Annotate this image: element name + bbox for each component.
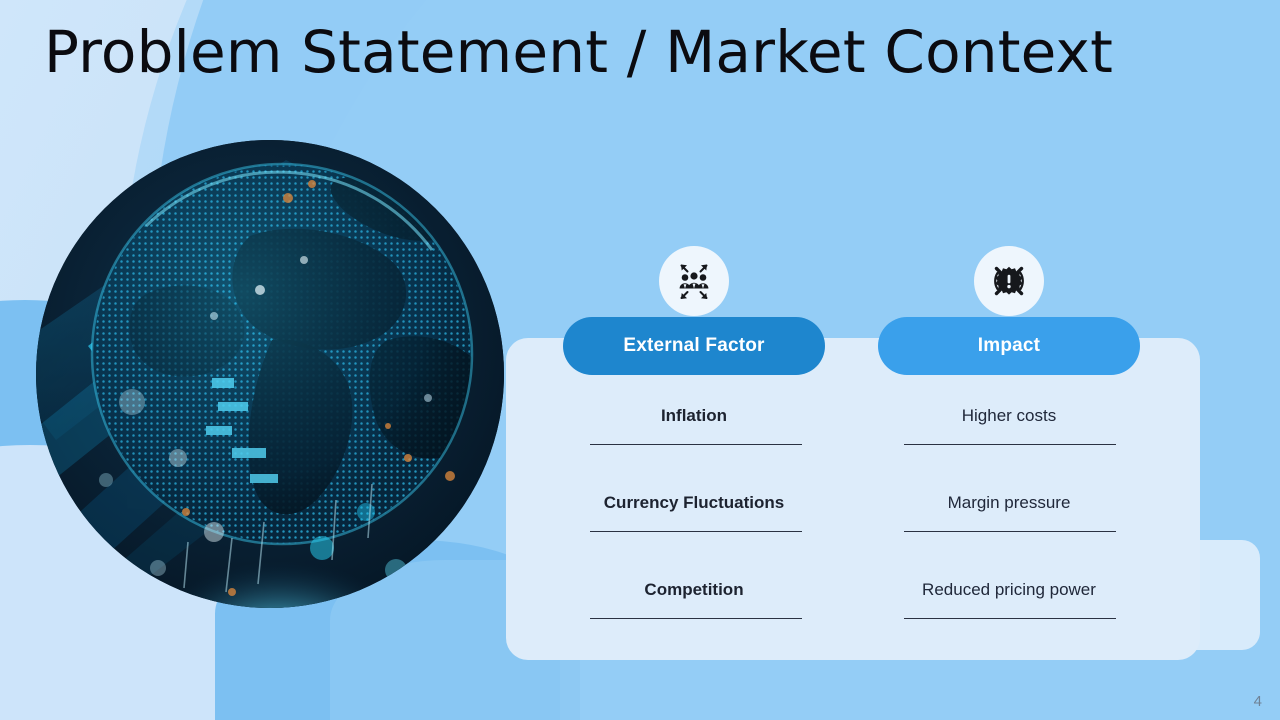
column-header-external-factor-label: External Factor: [623, 335, 764, 357]
cell-impact: Higher costs: [878, 406, 1140, 426]
table-row[interactable]: Competition Reduced pricing power: [506, 566, 1200, 653]
row-divider-left: [590, 618, 802, 619]
row-divider-right: [904, 444, 1116, 445]
column-header-external-factor[interactable]: External Factor: [563, 317, 825, 375]
row-divider-left: [590, 444, 802, 445]
globe-illustration: [36, 140, 504, 608]
people-network-glyph: [672, 259, 716, 303]
cell-external-factor: Currency Fluctuations: [563, 493, 825, 513]
gear-alert-glyph: [987, 259, 1031, 303]
column-header-impact-label: Impact: [978, 335, 1040, 357]
table-row[interactable]: Inflation Higher costs: [506, 392, 1200, 479]
slide-canvas: Problem Statement / Market Context: [0, 0, 1280, 720]
gear-alert-icon: [974, 246, 1044, 316]
page-number: 4: [1254, 693, 1262, 710]
row-divider-right: [904, 531, 1116, 532]
row-divider-left: [590, 531, 802, 532]
cell-impact: Reduced pricing power: [878, 580, 1140, 600]
digital-globe-image: [36, 140, 504, 608]
cell-impact: Margin pressure: [878, 493, 1140, 513]
page-title: Problem Statement / Market Context: [44, 18, 1113, 86]
comparison-table: Inflation Higher costs Currency Fluctuat…: [506, 392, 1200, 653]
people-network-icon: [659, 246, 729, 316]
table-row[interactable]: Currency Fluctuations Margin pressure: [506, 479, 1200, 566]
row-divider-right: [904, 618, 1116, 619]
cell-external-factor: Competition: [563, 580, 825, 600]
cell-external-factor: Inflation: [563, 406, 825, 426]
column-header-impact[interactable]: Impact: [878, 317, 1140, 375]
